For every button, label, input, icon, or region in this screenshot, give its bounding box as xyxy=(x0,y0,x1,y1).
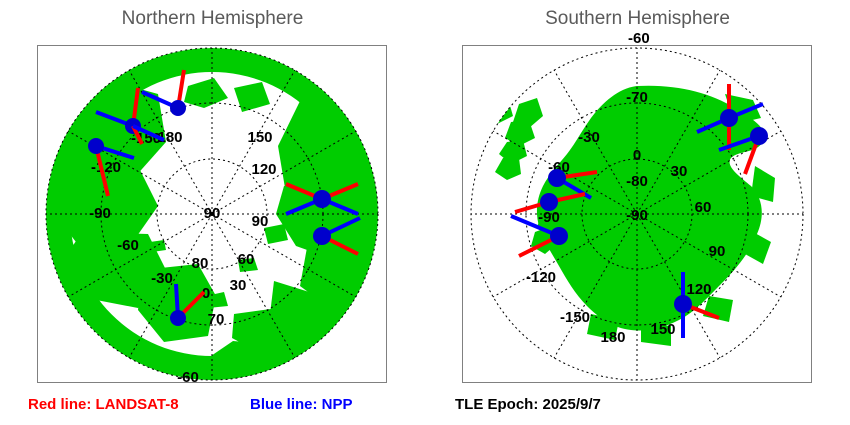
svg-text:90: 90 xyxy=(252,213,269,230)
svg-text:150: 150 xyxy=(650,321,675,338)
panel-title-southern: Southern Hemisphere xyxy=(425,8,850,30)
svg-text:90: 90 xyxy=(204,205,221,222)
svg-text:-90: -90 xyxy=(626,207,648,224)
panel-northern-hemisphere: Northern Hemisphere xyxy=(0,0,425,425)
south-outer-latitude-label: -60 xyxy=(628,30,650,47)
legend-landsat8: Red line: LANDSAT-8 xyxy=(28,396,179,413)
svg-text:90: 90 xyxy=(709,243,726,260)
svg-text:30: 30 xyxy=(230,277,247,294)
legend-tle-epoch: TLE Epoch: 2025/9/7 xyxy=(455,396,601,413)
panel-southern-hemisphere: Southern Hemisphere xyxy=(425,0,850,425)
svg-text:120: 120 xyxy=(686,281,711,298)
svg-text:-120: -120 xyxy=(526,269,556,286)
svg-text:60: 60 xyxy=(238,251,255,268)
svg-text:-60: -60 xyxy=(177,369,199,382)
panel-title-northern: Northern Hemisphere xyxy=(0,8,425,30)
svg-text:-80: -80 xyxy=(626,173,648,190)
svg-text:180: 180 xyxy=(600,329,625,346)
plot-frame-southern: -70 0 30 60 90 120 150 180 -150 -120 -90… xyxy=(462,45,812,383)
svg-text:80: 80 xyxy=(192,255,209,272)
svg-text:60: 60 xyxy=(695,199,712,216)
southern-map-svg: -70 0 30 60 90 120 150 180 -150 -120 -90… xyxy=(463,46,811,382)
svg-text:-90: -90 xyxy=(89,205,111,222)
svg-text:30: 30 xyxy=(671,163,688,180)
satellite-groundtrack-page: Northern Hemisphere xyxy=(0,0,850,425)
northern-map-svg: 180 150 120 90 60 30 0 -30 -60 -90 -120 … xyxy=(38,46,386,382)
svg-text:-90: -90 xyxy=(538,209,560,226)
svg-text:70: 70 xyxy=(208,311,225,328)
svg-text:-150: -150 xyxy=(560,309,590,326)
plot-frame-northern: 180 150 120 90 60 30 0 -30 -60 -90 -120 … xyxy=(37,45,387,383)
svg-text:-120: -120 xyxy=(91,159,121,176)
svg-text:120: 120 xyxy=(251,161,276,178)
svg-text:-30: -30 xyxy=(151,270,173,287)
svg-text:-30: -30 xyxy=(578,129,600,146)
legend-npp: Blue line: NPP xyxy=(250,396,353,413)
svg-text:0: 0 xyxy=(633,147,641,164)
svg-text:-60: -60 xyxy=(117,237,139,254)
svg-text:-70: -70 xyxy=(626,89,648,106)
svg-text:150: 150 xyxy=(247,129,272,146)
